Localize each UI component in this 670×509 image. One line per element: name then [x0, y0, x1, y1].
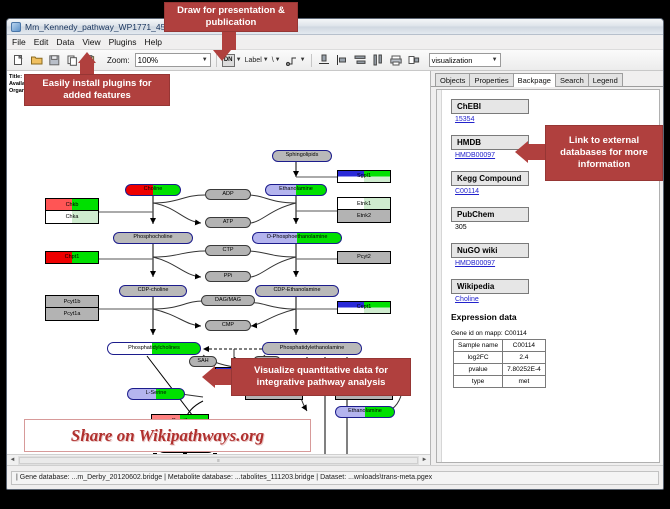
node-label: CTP	[223, 248, 234, 254]
tab-objects[interactable]: Objects	[435, 73, 470, 86]
protein-cept1[interactable]: Cept1	[337, 301, 391, 314]
protein-pcyt1b[interactable]: Pcyt1b	[46, 296, 98, 308]
callout-plugins-arrow	[78, 52, 96, 63]
chebi-link[interactable]: 15354	[455, 116, 659, 123]
cell-label: pvalue	[454, 364, 503, 376]
node-adp[interactable]: ADP	[205, 189, 251, 200]
pathway-canvas[interactable]: Title: Availa Organ	[7, 71, 431, 465]
menu-item-file[interactable]: File	[12, 37, 26, 47]
node-ethanolamine[interactable]: Ethanolamine	[265, 184, 327, 196]
scroll-left-icon[interactable]: ◄	[7, 455, 18, 466]
node-ppi[interactable]: PPi	[205, 271, 251, 282]
chevron-down-icon: ▼	[492, 57, 498, 63]
zoom-value: 100%	[138, 56, 158, 65]
node-label: CDP-Ethanolamine	[273, 288, 320, 294]
cell-value: met	[503, 376, 546, 388]
node-sphingolipids[interactable]: Sphingolipids	[272, 150, 332, 162]
order-front-icon[interactable]	[407, 53, 422, 68]
node-label: DAG/MAG	[215, 298, 241, 304]
share-banner: Share on Wikipathways.org	[24, 419, 311, 452]
node-label: Ethanolamine	[348, 409, 382, 415]
cell-label: log2FC	[454, 352, 503, 364]
scroll-right-icon[interactable]: ►	[419, 455, 430, 466]
node-label: CMP	[222, 323, 234, 329]
callout-visualize: Visualize quantitative data for integrat…	[231, 358, 411, 396]
gene-id-line: Gene id on mapp: C00114	[451, 330, 659, 337]
node-cdp-choline[interactable]: CDP-choline	[119, 285, 187, 297]
nugo-wiki-header: NuGO wiki	[451, 243, 529, 258]
node-label: SAH	[197, 359, 208, 365]
align-left-icon[interactable]	[335, 53, 350, 68]
protein-etnk2[interactable]: Etnk2	[338, 210, 390, 222]
node-label: Phosphatidylcholines	[128, 346, 180, 352]
chebi-header: ChEBI	[451, 99, 529, 114]
menu-item-data[interactable]: Data	[56, 37, 74, 47]
chevron-down-icon: ▼	[275, 57, 281, 63]
node-cmp[interactable]: CMP	[205, 320, 251, 331]
canvas-horizontal-scrollbar[interactable]: ◄ ≡ ►	[7, 454, 430, 465]
node-phosphocholine[interactable]: Phosphocholine	[113, 232, 193, 244]
protein-label: Etnk2	[357, 213, 371, 219]
protein-pcyt2[interactable]: Pcyt2	[337, 251, 391, 264]
protein-label: Etnk1	[357, 201, 371, 207]
table-row: type met	[454, 376, 546, 388]
callout-links-arrow	[515, 141, 528, 163]
callout-draw-stem	[222, 32, 236, 50]
protein-label: Chka	[66, 214, 79, 220]
node-l-serine[interactable]: L-Serine	[127, 388, 185, 400]
table-row: pvalue 7.80252E-4	[454, 364, 546, 376]
expression-table: Sample name C00114 log2FC 2.4 pvalue 7.8…	[453, 339, 546, 388]
app-icon	[11, 22, 21, 32]
zoom-combobox[interactable]: 100% ▼	[135, 53, 211, 67]
protein-label: Pcyt1b	[64, 299, 81, 305]
callout-draw: Draw for presentation & publication	[164, 2, 298, 32]
title-bar: Mm_Kennedy_pathway_WP1771_45176.gpml	[7, 19, 663, 35]
screenshot-root: Mm_Kennedy_pathway_WP1771_45176.gpml Fil…	[0, 0, 670, 509]
node-label: Phosphatidylethanolamine	[280, 346, 345, 352]
align-bottom-icon[interactable]	[317, 53, 332, 68]
node-label: Choline	[144, 187, 163, 193]
protein-sgpl1[interactable]: Sgpl1	[337, 170, 391, 183]
side-panel-tabs: Objects Properties Backpage Search Legen…	[431, 71, 663, 87]
scroll-track[interactable]: ≡	[18, 456, 419, 465]
connector-tool[interactable]: ▼	[284, 53, 306, 68]
node-ctp[interactable]: CTP	[205, 245, 251, 256]
protein-etnk-group[interactable]: Etnk1 Etnk2	[337, 197, 391, 223]
node-label: ATP	[223, 220, 233, 226]
menu-item-plugins[interactable]: Plugins	[109, 37, 137, 47]
menu-item-edit[interactable]: Edit	[34, 37, 49, 47]
distribute-horizontal-icon[interactable]	[371, 53, 386, 68]
open-file-icon[interactable]	[29, 53, 44, 68]
node-label: Ethanolamine	[279, 187, 313, 193]
print-icon[interactable]	[389, 53, 404, 68]
node-cdp-ethanolamine[interactable]: CDP-Ethanolamine	[255, 285, 339, 297]
protein-pcyt1a[interactable]: Pcyt1a	[46, 308, 98, 320]
visualization-combobox[interactable]: visualization ▼	[429, 53, 501, 67]
tab-legend[interactable]: Legend	[588, 73, 623, 86]
label-tool[interactable]: Label ▼	[245, 57, 269, 64]
node-label: Phosphocholine	[133, 235, 172, 241]
node-choline[interactable]: Choline	[125, 184, 181, 196]
chevron-down-icon: ▼	[263, 57, 269, 63]
connector-icon	[284, 53, 299, 68]
expression-data-title: Expression data	[451, 312, 659, 322]
node-label: L-Serine	[146, 391, 167, 397]
protein-label: Pcyt1a	[64, 311, 81, 317]
cell-label: Sample name	[454, 340, 503, 352]
protein-label: Chpt1	[65, 255, 80, 261]
callout-links: Link to external databases for more info…	[545, 125, 663, 181]
menu-item-help[interactable]: Help	[145, 37, 162, 47]
pubchem-value: 305	[455, 224, 659, 231]
tab-backpage[interactable]: Backpage	[513, 73, 556, 87]
node-phosphatidylethanolamine[interactable]: Phosphatidylethanolamine	[262, 342, 362, 355]
tab-search[interactable]: Search	[555, 73, 589, 86]
protein-chkb[interactable]: Chkb	[46, 199, 98, 211]
table-row: Sample name C00114	[454, 340, 546, 352]
callout-draw-arrow	[213, 50, 231, 61]
visualization-value: visualization	[432, 56, 473, 65]
menu-item-view[interactable]: View	[82, 37, 100, 47]
label-tool-label: Label	[245, 57, 262, 64]
protein-chpt1[interactable]: Chpt1	[45, 251, 99, 264]
node-atp[interactable]: ATP	[205, 217, 251, 228]
protein-chk-group[interactable]: Chkb Chka	[45, 198, 99, 224]
node-ethanolamine-right[interactable]: Ethanolamine	[335, 406, 395, 418]
protein-chka[interactable]: Chka	[46, 211, 98, 223]
node-dagmag[interactable]: DAG/MAG	[201, 295, 255, 306]
status-bar: | Gene database: ...m_Derby_20120602.bri…	[7, 465, 663, 489]
protein-label: Cept1	[357, 305, 372, 311]
protein-etnk1[interactable]: Etnk1	[338, 198, 390, 210]
nugo-wiki-link[interactable]: HMDB00097	[455, 260, 659, 267]
zoom-label: Zoom:	[107, 56, 130, 65]
tool-bar: Zoom: 100% ▼ DN ▼ Label ▼ \ ▼	[7, 50, 663, 71]
wikipedia-link[interactable]: Choline	[455, 296, 659, 303]
wikipedia-header: Wikipedia	[451, 279, 529, 294]
callout-plugins: Easily install plugins for added feature…	[24, 74, 170, 106]
scroll-thumb[interactable]: ≡	[19, 457, 418, 464]
backpage-scroll-gutter[interactable]	[437, 90, 442, 462]
kegg-compound-link[interactable]: C00114	[455, 188, 659, 195]
toolbar-separator	[311, 54, 312, 67]
node-label: PPi	[224, 274, 233, 280]
protein-label: Pcyt2	[357, 255, 371, 261]
cell-label: type	[454, 376, 503, 388]
pubchem-header: PubChem	[451, 207, 529, 222]
save-file-icon[interactable]	[47, 53, 62, 68]
new-file-icon[interactable]	[11, 53, 26, 68]
tab-properties[interactable]: Properties	[469, 73, 513, 86]
node-label: Sphingolipids	[286, 153, 319, 159]
protein-label: Chkb	[66, 202, 79, 208]
protein-pcyt1-group[interactable]: Pcyt1b Pcyt1a	[45, 295, 99, 321]
menu-bar: File Edit Data View Plugins Help	[7, 35, 663, 50]
cell-value: 2.4	[503, 352, 546, 364]
status-text: | Gene database: ...m_Derby_20120602.bri…	[11, 471, 659, 485]
chevron-down-icon: ▼	[236, 57, 242, 63]
chevron-down-icon: ▼	[202, 57, 208, 63]
line-tool[interactable]: \ ▼	[272, 57, 281, 64]
protein-label: Sgpl1	[357, 174, 371, 180]
table-row: log2FC 2.4	[454, 352, 546, 364]
node-phosphatidylcholines[interactable]: Phosphatidylcholines	[107, 342, 201, 355]
cell-value: C00114	[503, 340, 546, 352]
kegg-compound-header: Kegg Compound	[451, 171, 529, 186]
node-label: CDP-choline	[138, 288, 169, 294]
cell-value: 7.80252E-4	[503, 364, 546, 376]
node-o-phosphoethanolamine[interactable]: O-Phosphoethanolamine	[252, 232, 342, 244]
share-text: Share on Wikipathways.org	[71, 426, 264, 446]
node-label: O-Phosphoethanolamine	[267, 235, 328, 241]
callout-visualize-arrow	[202, 366, 215, 388]
chevron-down-icon: ▼	[300, 57, 306, 63]
node-label: ADP	[222, 192, 233, 198]
distribute-vertical-icon[interactable]	[353, 53, 368, 68]
line-icon: \	[272, 57, 274, 64]
